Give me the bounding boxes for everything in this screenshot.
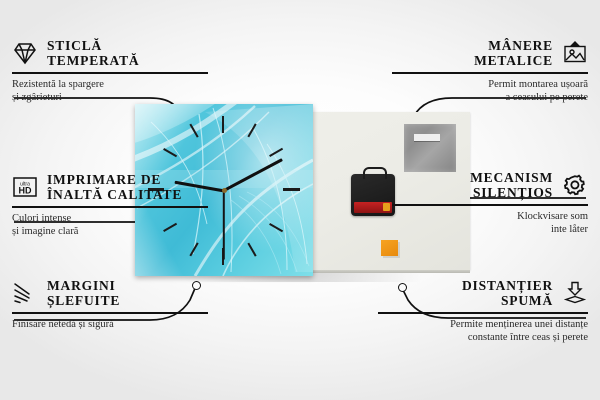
panel-bottom-edge — [303, 270, 470, 273]
feature-sub-line2: și imagine clară — [12, 225, 208, 238]
metal-hanger-part — [404, 124, 456, 172]
feature-polished-edges: MARGINI ȘLEFUITE Finisare netedă și sigu… — [12, 278, 208, 331]
feature-title-line1: STICLĂ — [47, 38, 139, 53]
svg-text:HD: HD — [19, 186, 32, 196]
feature-silent-mechanism: MECANISM SILENȚIOS Klockvisare som inte … — [392, 170, 588, 237]
feature-title-line1: MARGINI — [47, 278, 120, 293]
feature-sub-line2: și zgârieturi — [12, 91, 208, 104]
feature-tempered-glass: STICLĂ TEMPERATĂ Rezistentă la spargere … — [12, 38, 208, 105]
foam-spacer-icon — [562, 281, 588, 305]
feature-title-line2: ÎNALTĂ CALITATE — [47, 187, 182, 202]
feature-title-line2: SILENȚIOS — [470, 185, 553, 200]
foam-spacer-part — [381, 240, 398, 256]
feature-divider — [392, 72, 588, 74]
feature-metal-hangers: MÂNERE METALICE Permit montarea ușoară a… — [392, 38, 588, 105]
battery-part — [354, 202, 392, 213]
feature-title-line1: MÂNERE — [474, 38, 553, 53]
feature-sub-line1: Permite menținerea unei distanțe — [378, 318, 588, 331]
feature-divider — [12, 72, 208, 74]
feature-title-line2: ȘLEFUITE — [47, 293, 120, 308]
diamond-icon — [12, 41, 38, 65]
quartz-movement-part — [351, 174, 395, 216]
feature-title-line1: MECANISM — [470, 170, 553, 185]
ultra-hd-icon: ultra HD — [12, 175, 38, 199]
feature-sub-line2: inte låter — [392, 223, 588, 236]
battery-terminal — [383, 203, 390, 211]
clock-tick — [222, 116, 224, 133]
feature-divider — [378, 312, 588, 314]
feature-divider — [12, 206, 208, 208]
feature-sub-line1: Culori intense — [12, 212, 208, 225]
feature-divider — [392, 204, 588, 206]
feature-title-line2: TEMPERATĂ — [47, 53, 139, 68]
feature-sub-line1: Finisare netedă și sigură — [12, 318, 208, 331]
picture-hanger-icon — [562, 41, 588, 65]
clock-second-hand — [223, 190, 225, 260]
clock-center-pin — [222, 188, 227, 193]
feature-title-line2: METALICE — [474, 53, 553, 68]
clock-tick — [283, 188, 300, 191]
gear-icon — [562, 173, 588, 197]
feature-sub-line2: a ceasului pe perete — [392, 91, 588, 104]
feature-title-line1: DISTANȚIER — [462, 278, 553, 293]
feature-sub-line1: Klockvisare som — [392, 210, 588, 223]
feature-sub-line1: Rezistentă la spargere — [12, 78, 208, 91]
movement-hook — [363, 167, 387, 179]
feature-title-line1: IMPRIMARE DE — [47, 172, 182, 187]
feature-sub-line2: constante între ceas și perete — [378, 331, 588, 344]
feature-foam-spacer: DISTANȚIER SPUMĂ Permite menținerea unei… — [378, 278, 588, 345]
feature-sub-line1: Permit montarea ușoară — [392, 78, 588, 91]
feature-hd-print: ultra HD IMPRIMARE DE ÎNALTĂ CALITATE Cu… — [12, 172, 208, 239]
infographic-canvas: STICLĂ TEMPERATĂ Rezistentă la spargere … — [0, 0, 600, 400]
polished-edges-icon — [12, 281, 38, 305]
hanger-slot — [414, 134, 440, 141]
feature-title-line2: SPUMĂ — [462, 293, 553, 308]
feature-divider — [12, 312, 208, 314]
